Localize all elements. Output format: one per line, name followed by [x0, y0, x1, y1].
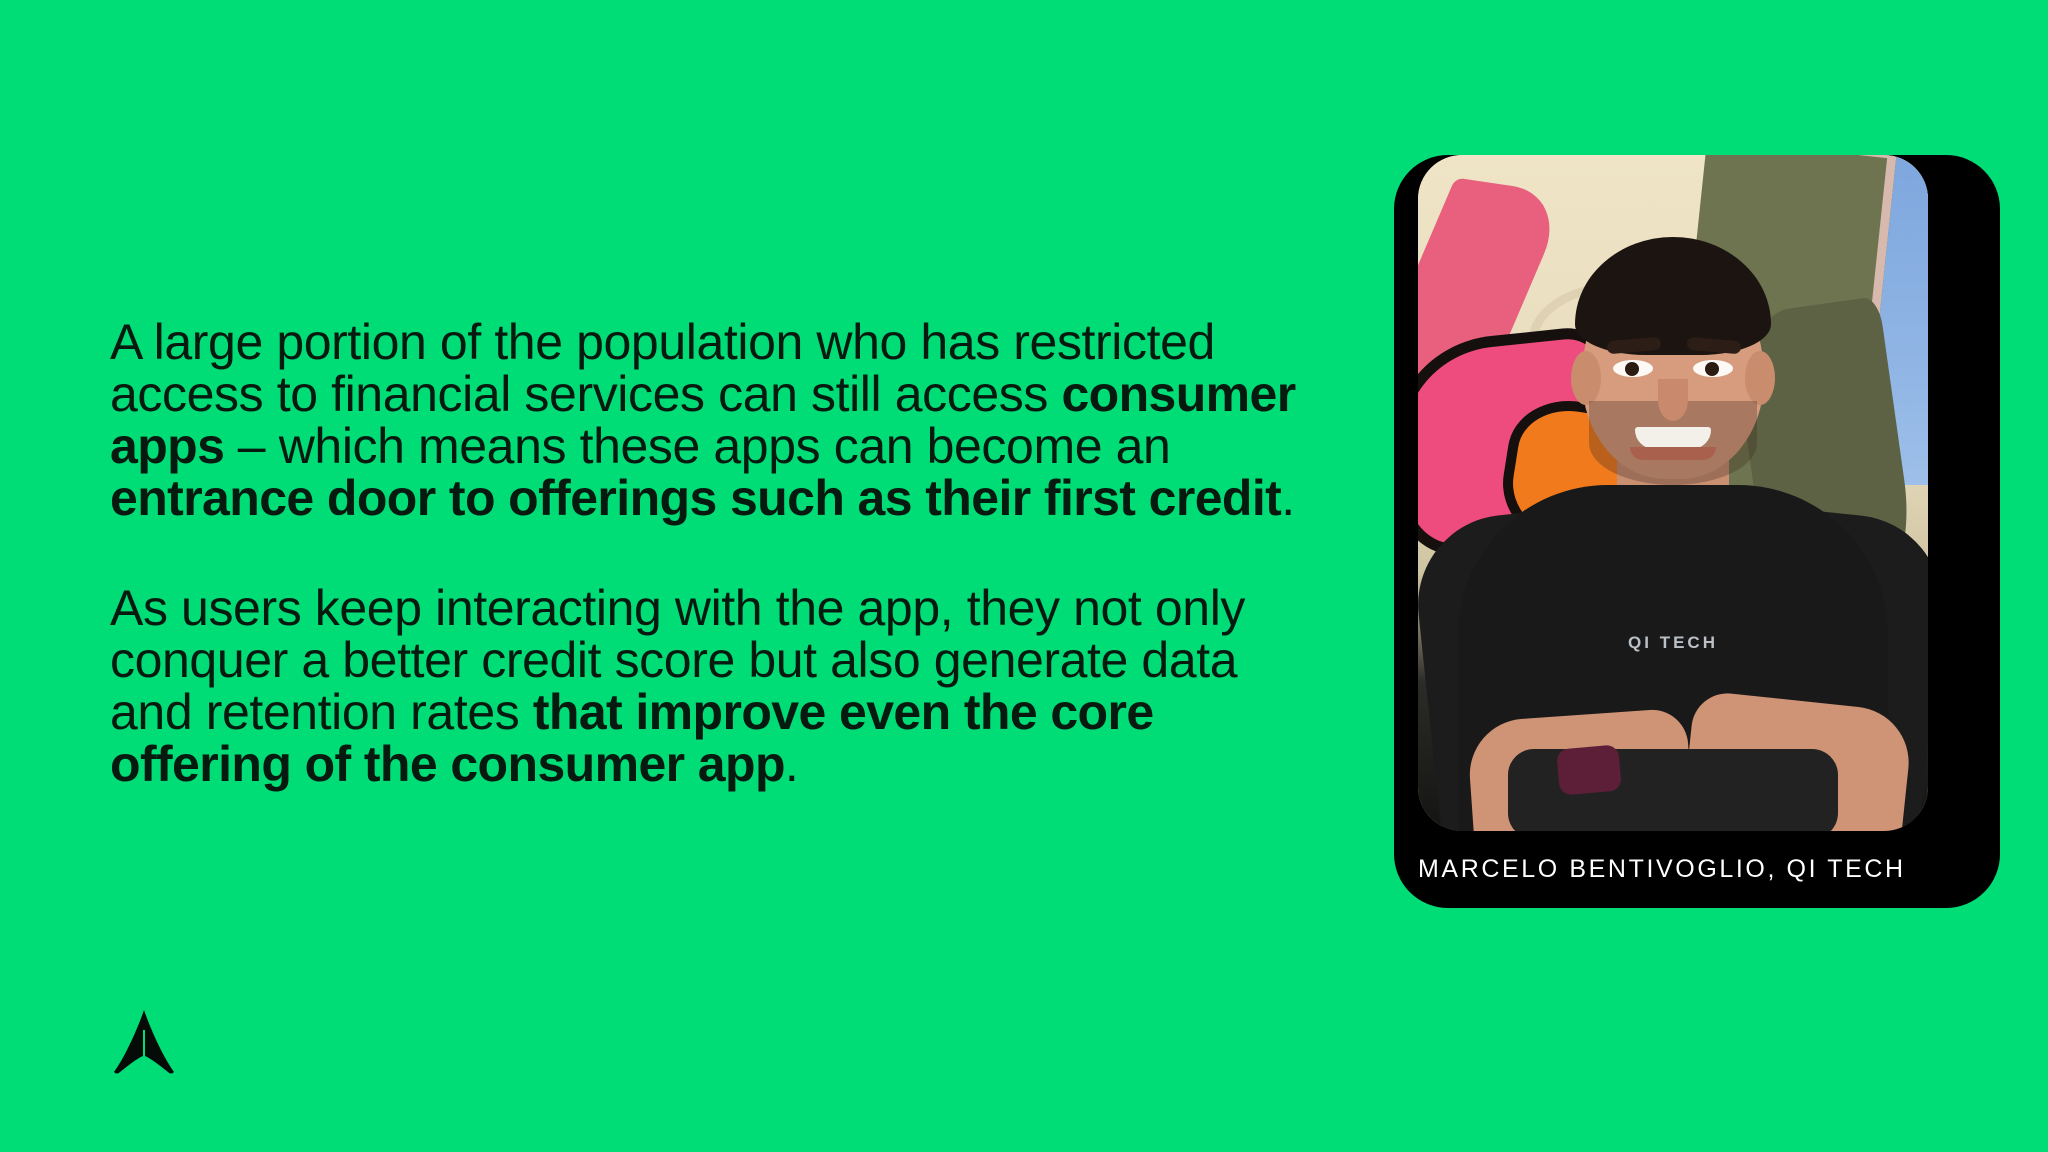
arrow-up-logo: [108, 1008, 180, 1080]
person-lower-lip: [1630, 447, 1716, 460]
person-left-ear: [1571, 351, 1601, 405]
person-right-ear: [1745, 351, 1775, 405]
quote-text: A large portion of the population who ha…: [110, 314, 1215, 422]
portrait-caption: MARCELO BENTIVOGLIO, QI TECH: [1418, 831, 1976, 908]
person-wristwatch: [1556, 744, 1622, 795]
quote-text: .: [785, 736, 799, 792]
quote-block: A large portion of the population who ha…: [110, 316, 1320, 790]
quote-text: – which means these apps can become an: [224, 418, 1170, 474]
person-left-pupil: [1625, 362, 1639, 376]
portrait-photo: QI TECH: [1418, 155, 1928, 831]
person-right-pupil: [1705, 362, 1719, 376]
person-teeth: [1635, 427, 1711, 449]
portrait-caption-text: MARCELO BENTIVOGLIO, QI TECH: [1418, 855, 1906, 884]
portrait-card: QI TECH MARCELO BENTIVOGLIO, QI TECH: [1394, 155, 2000, 908]
quote-paragraph-2: As users keep interacting with the app, …: [110, 582, 1320, 790]
quote-emphasis: entrance door to offerings such as their…: [110, 470, 1281, 526]
shirt-qitech-logo: QI TECH: [1628, 633, 1718, 653]
quote-paragraph-1: A large portion of the population who ha…: [110, 316, 1320, 524]
quote-text: .: [1281, 470, 1295, 526]
person-nose: [1658, 379, 1688, 421]
